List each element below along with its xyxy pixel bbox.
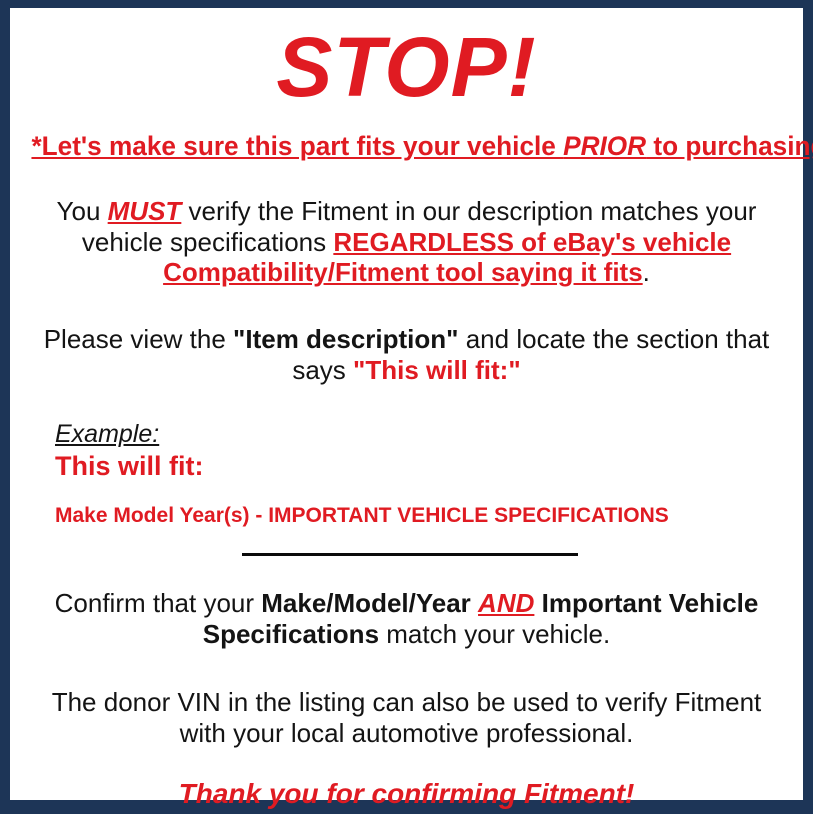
confirm-space-2 (534, 588, 541, 618)
subtitle-suffix: to purchasing* (646, 131, 813, 161)
view-part-1: Please view the (44, 324, 233, 354)
fitment-notice-card: STOP! *Let's make sure this part fits yo… (0, 0, 813, 814)
subtitle-prefix: *Let's make sure this part fits your veh… (31, 131, 563, 161)
notice-content: STOP! *Let's make sure this part fits yo… (10, 25, 803, 817)
confirm-part-4: match your vehicle. (379, 619, 610, 649)
and-emphasis: AND (478, 588, 534, 618)
paragraph-view-description: Please view the "Item description" and l… (19, 324, 794, 385)
must-emphasis: MUST (108, 196, 182, 226)
paragraph-must-verify: You MUST verify the Fitment in our descr… (19, 196, 794, 288)
example-fit-heading: This will fit: (55, 451, 794, 482)
subtitle-line: *Let's make sure this part fits your veh… (19, 131, 794, 162)
divider-rule (242, 553, 578, 556)
this-will-fit-emphasis: "This will fit:" (353, 355, 521, 385)
confirm-space-1 (471, 588, 478, 618)
example-label: Example: (55, 421, 159, 449)
page-title: STOP! (19, 25, 794, 109)
closing-text: Thank you for confirming Fitment! (179, 778, 635, 809)
paragraph-donor-vin: The donor VIN in the listing can also be… (19, 687, 794, 748)
closing-line: Thank you for confirming Fitment! (19, 777, 794, 810)
paragraph-confirm: Confirm that your Make/Model/Year AND Im… (19, 588, 794, 649)
item-description-emphasis: "Item description" (233, 324, 458, 354)
must-part-3: . (643, 257, 650, 287)
divider (19, 552, 794, 556)
must-part-1: You (57, 196, 108, 226)
subtitle-text: *Let's make sure this part fits your veh… (31, 131, 813, 162)
subtitle-emphasis-prior: PRIOR (563, 131, 646, 161)
confirm-part-1: Confirm that your (55, 588, 262, 618)
example-spec-line: Make Model Year(s) - IMPORTANT VEHICLE S… (55, 504, 794, 528)
example-block: Example: This will fit: Make Model Year(… (19, 421, 794, 528)
make-model-year-emphasis: Make/Model/Year (261, 588, 471, 618)
